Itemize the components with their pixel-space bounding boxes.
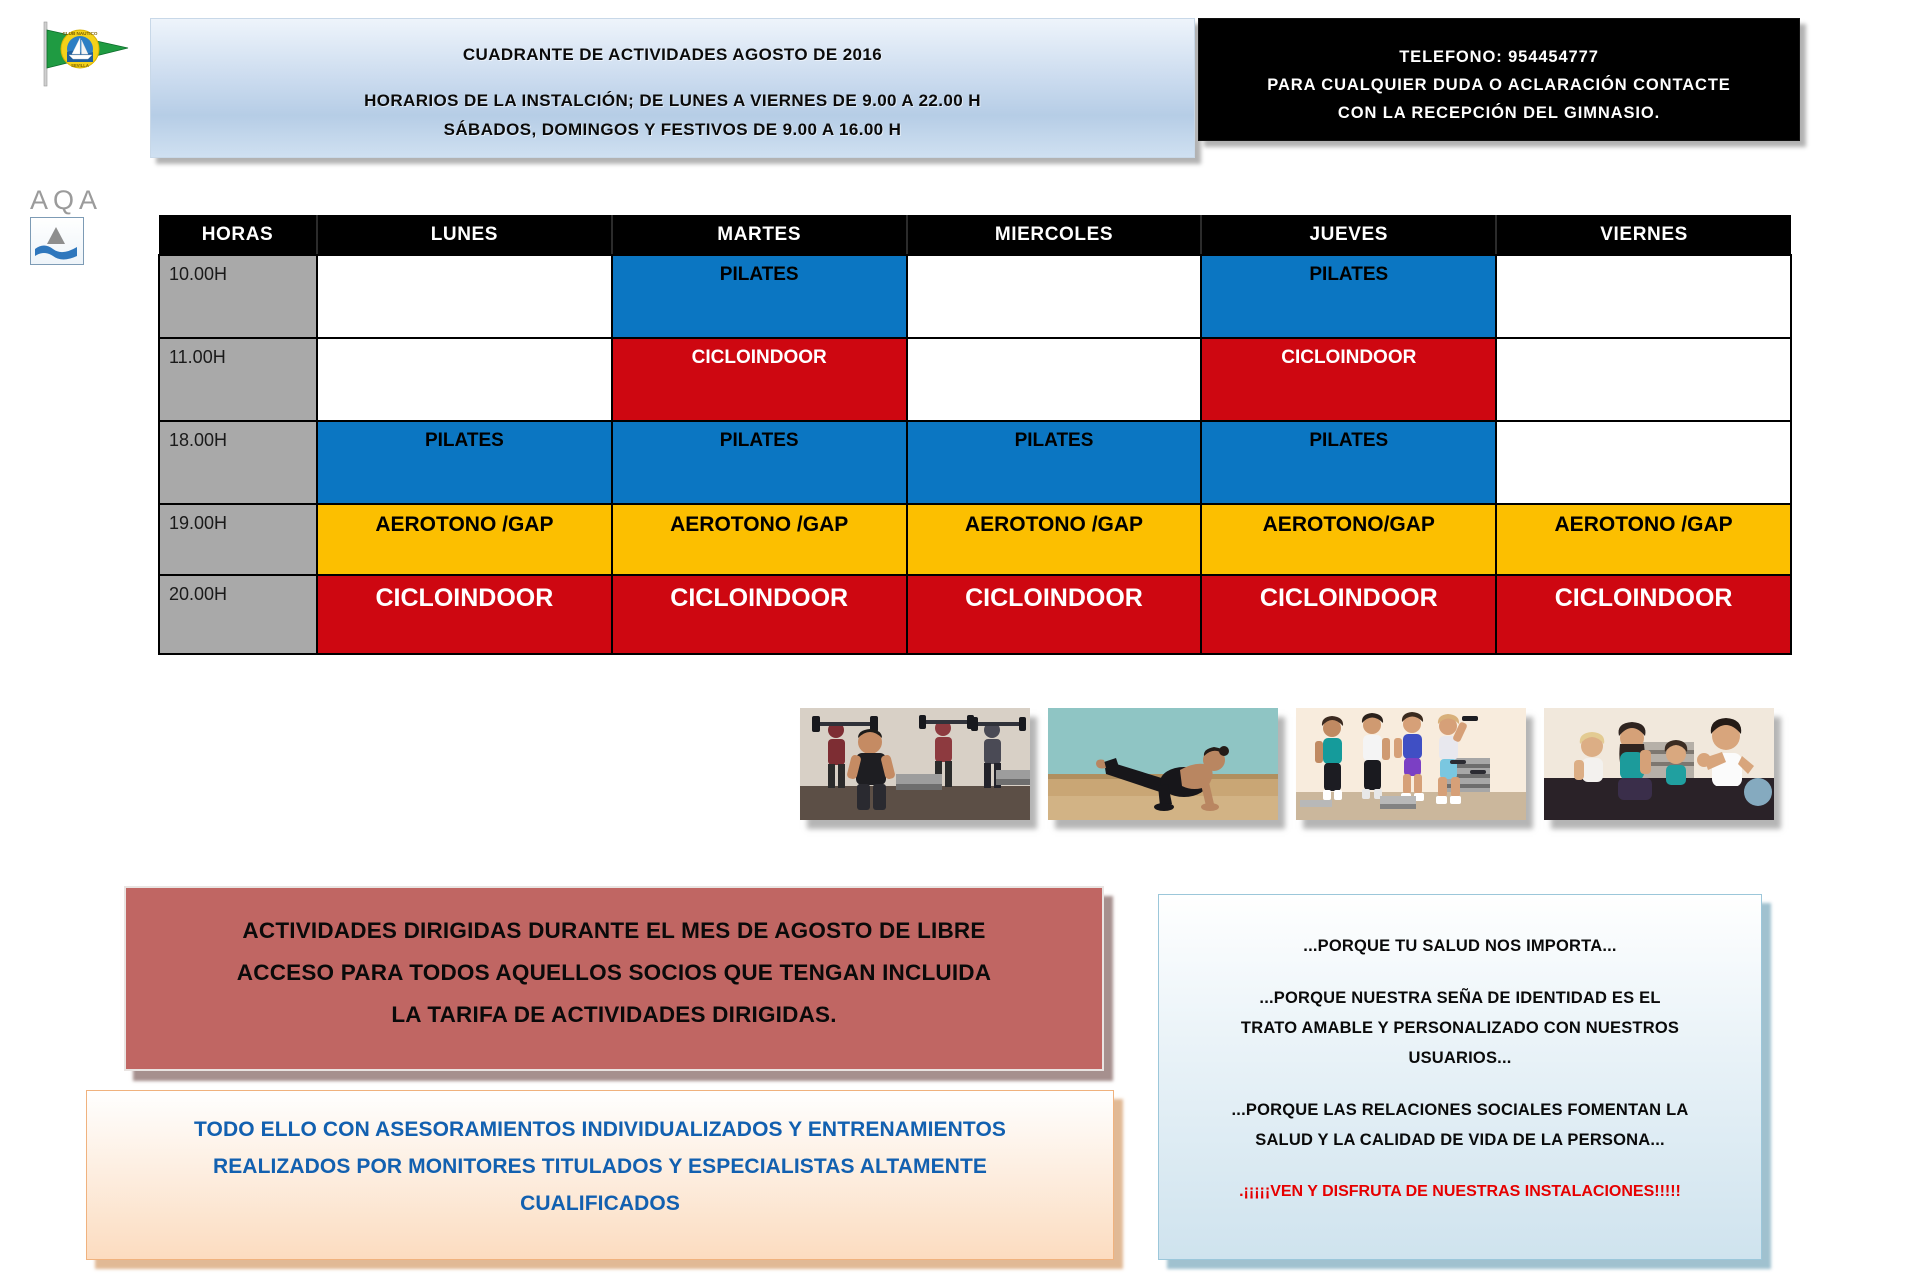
schedule-cell-jueves-20-00h: CICLOINDOOR [1201,575,1496,654]
schedule-cell-jueves-11-00h: CICLOINDOOR [1201,338,1496,421]
photo-pilates-pose [1048,708,1278,820]
blue-notice-line-5: ...PORQUE LAS RELACIONES SOCIALES FOMENT… [1185,1095,1735,1125]
schedule-cell-lunes-10-00h [317,255,612,338]
schedule-cell-jueves-10-00h: PILATES [1201,255,1496,338]
phone-help-line-1: PARA CUALQUIER DUDA O ACLARACIÓN CONTACT… [1199,71,1799,99]
banner-title: CUADRANTE DE ACTIVIDADES AGOSTO DE 2016 [151,45,1194,65]
schedule-hour-cell: 18.00H [159,421,317,504]
club-nautico-logo: CLUB NAUTICO SEVILLA [28,18,140,88]
schedule-hour-cell: 10.00H [159,255,317,338]
blue-notice-box: ...PORQUE TU SALUD NOS IMPORTA... ...POR… [1158,894,1762,1260]
schedule-cell-lunes-11-00h [317,338,612,421]
banner-hours-weekday: HORARIOS DE LA INSTALCIÓN; DE LUNES A VI… [151,91,1194,111]
column-header-lunes: LUNES [317,215,612,255]
photo-step-aerobics [1296,708,1526,820]
schedule-hour-cell: 11.00H [159,338,317,421]
schedule-cell-miercoles-10-00h [907,255,1202,338]
schedule-row-18-00h: 18.00HPILATESPILATESPILATESPILATES [159,421,1791,504]
schedule-header-row: HORAS LUNES MARTES MIERCOLES JUEVES VIER… [159,215,1791,255]
blue-notice-line-1: ...PORQUE TU SALUD NOS IMPORTA... [1185,931,1735,961]
banner-hours-weekend: SÁBADOS, DOMINGOS Y FESTIVOS DE 9.00 A 1… [151,120,1194,140]
column-header-martes: MARTES [612,215,907,255]
schedule-row-10-00h: 10.00HPILATESPILATES [159,255,1791,338]
schedule-cell-martes-19-00h: AEROTONO /GAP [612,504,907,575]
aqa-wave-mountain-icon [30,217,84,265]
schedule-cell-viernes-19-00h: AEROTONO /GAP [1496,504,1791,575]
schedule-hour-cell: 19.00H [159,504,317,575]
activities-schedule-table: HORAS LUNES MARTES MIERCOLES JUEVES VIER… [158,215,1792,655]
schedule-cell-martes-11-00h: CICLOINDOOR [612,338,907,421]
phone-help-line-2: CON LA RECEPCIÓN DEL GIMNASIO. [1199,99,1799,127]
schedule-row-11-00h: 11.00HCICLOINDOORCICLOINDOOR [159,338,1791,421]
phone-banner: TELEFONO: 954454777 PARA CUALQUIER DUDA … [1198,18,1800,141]
peach-notice-box: TODO ELLO CON ASESORAMIENTOS INDIVIDUALI… [86,1090,1114,1260]
schedule-cell-lunes-18-00h: PILATES [317,421,612,504]
aqa-logo: AQA [30,186,108,266]
schedule-cell-jueves-19-00h: AEROTONO/GAP [1201,504,1496,575]
schedule-cell-miercoles-19-00h: AEROTONO /GAP [907,504,1202,575]
schedule-hour-cell: 20.00H [159,575,317,654]
red-notice-line-1: ACTIVIDADES DIRIGIDAS DURANTE EL MES DE … [156,910,1072,952]
schedule-cell-viernes-10-00h [1496,255,1791,338]
schedule-cell-martes-18-00h: PILATES [612,421,907,504]
schedule-cell-martes-20-00h: CICLOINDOOR [612,575,907,654]
schedule-cell-viernes-20-00h: CICLOINDOOR [1496,575,1791,654]
svg-text:CLUB NAUTICO: CLUB NAUTICO [63,31,98,36]
column-header-miercoles: MIERCOLES [907,215,1202,255]
peach-notice-line-2: REALIZADOS POR MONITORES TITULADOS Y ESP… [111,1148,1089,1185]
red-notice-box: ACTIVIDADES DIRIGIDAS DURANTE EL MES DE … [124,886,1104,1071]
schedule-cell-miercoles-20-00h: CICLOINDOOR [907,575,1202,654]
red-notice-line-2: ACCESO PARA TODOS AQUELLOS SOCIOS QUE TE… [156,952,1072,994]
blue-notice-line-3: TRATO AMABLE Y PERSONALIZADO CON NUESTRO… [1185,1013,1735,1043]
peach-notice-line-1: TODO ELLO CON ASESORAMIENTOS INDIVIDUALI… [111,1111,1089,1148]
blue-notice-cta: .¡¡¡¡¡VEN Y DISFRUTA DE NUESTRAS INSTALA… [1185,1177,1735,1207]
schedule-cell-lunes-19-00h: AEROTONO /GAP [317,504,612,575]
photo-stretching-group [1544,708,1774,820]
column-header-horas: HORAS [159,215,317,255]
sailing-burgee-flag-icon: CLUB NAUTICO SEVILLA [28,18,140,88]
schedule-row-19-00h: 19.00HAEROTONO /GAPAEROTONO /GAPAEROTONO… [159,504,1791,575]
blue-notice-line-4: USUARIOS... [1185,1043,1735,1073]
schedule-cell-lunes-20-00h: CICLOINDOOR [317,575,612,654]
schedule-cell-miercoles-11-00h [907,338,1202,421]
blue-notice-line-2: ...PORQUE NUESTRA SEÑA DE IDENTIDAD ES E… [1185,983,1735,1013]
schedule-cell-miercoles-18-00h: PILATES [907,421,1202,504]
photo-strip [800,702,1810,852]
schedule-cell-viernes-11-00h [1496,338,1791,421]
svg-text:SEVILLA: SEVILLA [71,63,89,68]
aqa-label: AQA [30,186,108,214]
schedule-cell-viernes-18-00h [1496,421,1791,504]
phone-number-line: TELEFONO: 954454777 [1199,43,1799,71]
photo-weight-training [800,708,1030,820]
schedule-cell-jueves-18-00h: PILATES [1201,421,1496,504]
column-header-jueves: JUEVES [1201,215,1496,255]
schedule-row-20-00h: 20.00HCICLOINDOORCICLOINDOORCICLOINDOORC… [159,575,1791,654]
title-banner: CUADRANTE DE ACTIVIDADES AGOSTO DE 2016 … [150,18,1195,158]
column-header-viernes: VIERNES [1496,215,1791,255]
red-notice-line-3: LA TARIFA DE ACTIVIDADES DIRIGIDAS. [156,994,1072,1036]
peach-notice-line-3: CUALIFICADOS [111,1185,1089,1222]
schedule-cell-martes-10-00h: PILATES [612,255,907,338]
blue-notice-line-6: SALUD Y LA CALIDAD DE VIDA DE LA PERSONA… [1185,1125,1735,1155]
